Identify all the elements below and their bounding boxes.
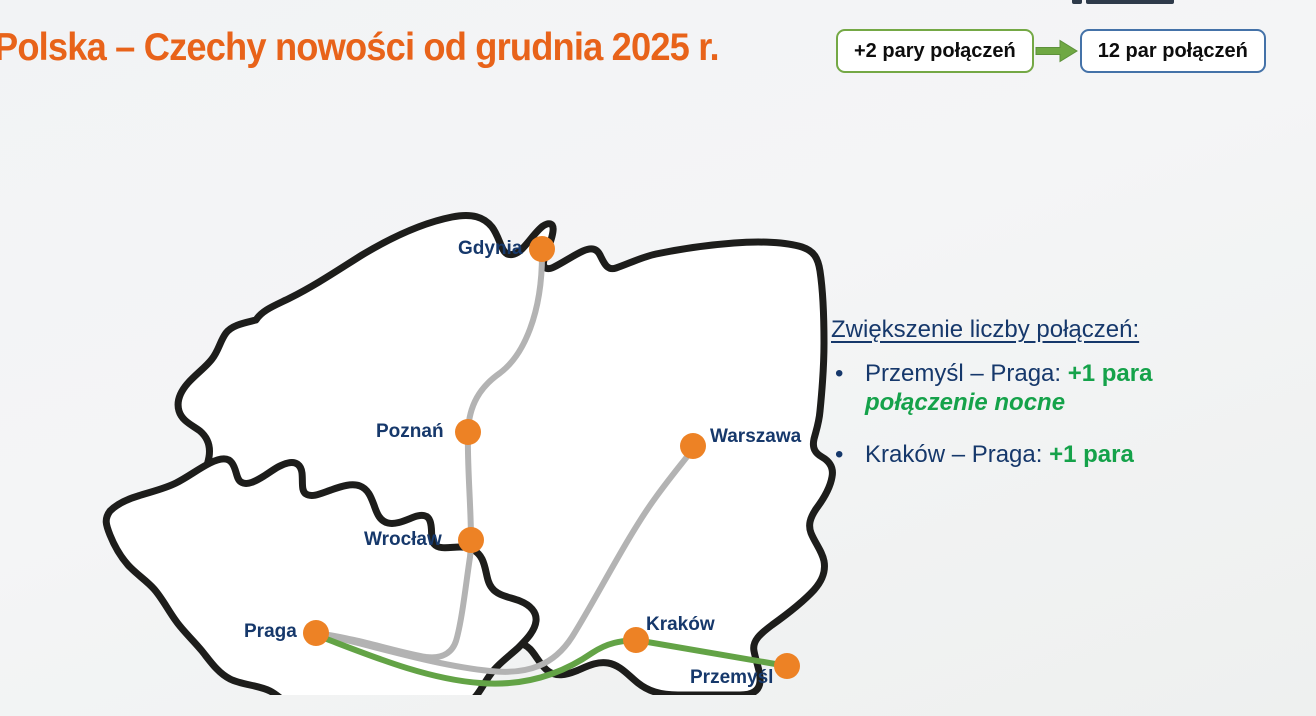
city-label-poznan: Poznań <box>376 421 444 443</box>
city-label-wroclaw: Wrocław <box>364 529 442 551</box>
city-dot-poznan <box>455 419 481 445</box>
city-label-warszawa: Warszawa <box>710 426 801 448</box>
arrow-right-icon <box>1034 29 1080 73</box>
route-map: Gdynia Poznań Wrocław Warszawa Kraków Pr… <box>80 105 840 695</box>
city-dot-warszawa <box>680 433 706 459</box>
city-dot-gdynia <box>529 236 555 262</box>
city-label-przemysl: Przemyśl <box>690 667 773 689</box>
top-cutoff-marker-dash <box>1072 0 1082 4</box>
bullet-text: Kraków – Praga: +1 para <box>865 440 1134 469</box>
city-dot-praga <box>303 620 329 646</box>
city-label-krakow: Kraków <box>646 614 715 636</box>
bullet-note: połączenie nocne <box>865 388 1152 417</box>
total-pairs-badge: 12 par połączeń <box>1080 29 1266 73</box>
increase-info-block: Zwiększenie liczby połączeń: • Przemyśl … <box>831 316 1301 469</box>
connection-summary-badges: +2 pary połączeń 12 par połączeń <box>836 29 1266 73</box>
map-svg <box>80 105 840 695</box>
list-item: • Kraków – Praga: +1 para <box>831 440 1301 469</box>
bullet-emphasis: +1 para <box>1049 441 1134 468</box>
city-label-gdynia: Gdynia <box>458 238 522 260</box>
city-dot-wroclaw <box>458 527 484 553</box>
top-cutoff-marker <box>1086 0 1174 4</box>
city-label-praga: Praga <box>244 621 297 643</box>
added-pairs-badge: +2 pary połączeń <box>836 29 1034 73</box>
bullet-text: Przemyśl – Praga: +1 para połączenie noc… <box>865 359 1152 418</box>
page-title: Polska – Czechy nowości od grudnia 2025 … <box>0 26 719 70</box>
bullet-emphasis: +1 para <box>1068 360 1153 387</box>
bullet-route-label: Przemyśl – Praga: <box>865 360 1068 387</box>
list-item: • Przemyśl – Praga: +1 para połączenie n… <box>831 359 1301 418</box>
city-dot-przemysl <box>774 653 800 679</box>
info-heading: Zwiększenie liczby połączeń: <box>831 316 1301 344</box>
bullet-route-label: Kraków – Praga: <box>865 441 1049 468</box>
